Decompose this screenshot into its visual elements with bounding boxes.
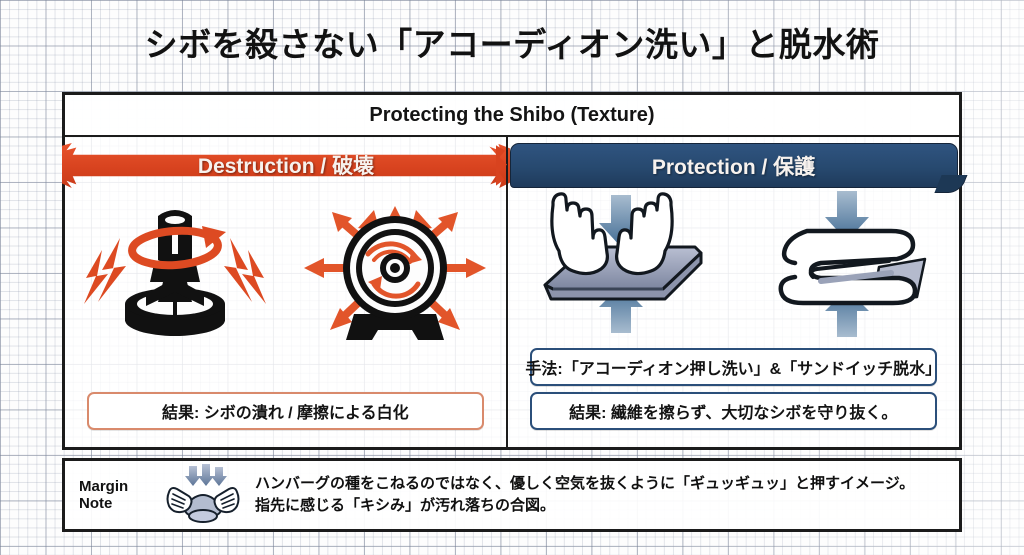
result-destruction-label: 結果: シボの潰れ / 摩擦による白化 [162, 399, 409, 423]
margin-note-label: Margin Note [79, 478, 157, 513]
result-box-protection: 結果: 繊維を擦らず、大切なシボを守り抜く。 [530, 392, 937, 430]
column-destruction: Destruction / 破壊 [65, 137, 506, 448]
result-box-destruction: 結果: シボの潰れ / 摩擦による白化 [87, 392, 484, 430]
method-box-protection: 手法:「アコーディオン押し洗い」&「サンドイッチ脱水」 [530, 348, 937, 386]
margin-note-text-line1: ハンバーグの種をこねるのではなく、優しく空気を抜くように「ギュッギュッ」と押すイ… [255, 473, 945, 495]
banner-destruction: Destruction / 破壊 [62, 143, 510, 188]
main-panel: Protecting the Shibo (Texture) Destructi… [62, 92, 962, 450]
folded-towel-sandwich-icon [746, 185, 946, 343]
spin-drum-icon [295, 196, 495, 354]
hands-pressing-dough-icon [157, 464, 249, 526]
panel-header: Protecting the Shibo (Texture) [65, 95, 959, 137]
margin-note-text-line2: 指先に感じる「キシみ」が汚れ落ちの合図。 [255, 495, 945, 517]
margin-note-panel: Margin Note [62, 458, 962, 532]
agitator-pulsator-icon [75, 196, 275, 354]
column-protection: Protection / 保護 [506, 137, 959, 448]
banner-protection-label: Protection / 保護 [652, 151, 815, 181]
banner-protection: Protection / 保護 [510, 143, 958, 188]
page-title: シボを殺さない「アコーディオン洗い」と脱水術 [0, 18, 1024, 66]
margin-note-text: ハンバーグの種をこねるのではなく、優しく空気を抜くように「ギュッギュッ」と押すイ… [249, 473, 945, 517]
hands-press-wash-icon [520, 185, 720, 343]
protection-icon-row [508, 189, 959, 339]
result-protection-label: 結果: 繊維を擦らず、大切なシボを守り抜く。 [569, 399, 897, 423]
method-protection-label: 手法:「アコーディオン押し洗い」&「サンドイッチ脱水」 [525, 355, 941, 379]
comparison-columns: Destruction / 破壊 [65, 137, 959, 448]
banner-destruction-label: Destruction / 破壊 [198, 150, 374, 181]
margin-note-label-line1: Margin [79, 478, 157, 495]
margin-note-label-line2: Note [79, 495, 157, 512]
destruction-icon-row [65, 195, 506, 355]
